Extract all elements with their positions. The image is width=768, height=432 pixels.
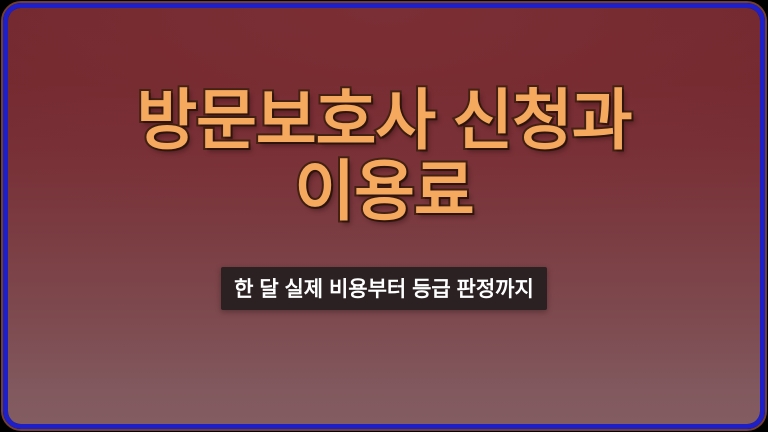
blue-frame-border: 방문보호사 신청과 이용료 한 달 실제 비용부터 등급 판정까지: [3, 3, 765, 429]
title-line-2: 이용료: [8, 159, 760, 224]
subtitle-badge: 한 달 실제 비용부터 등급 판정까지: [221, 267, 547, 310]
subtitle-area: 한 달 실제 비용부터 등급 판정까지: [8, 267, 760, 310]
title-line-1: 방문보호사 신청과: [8, 88, 760, 153]
content-area: 방문보호사 신청과 이용료 한 달 실제 비용부터 등급 판정까지: [8, 8, 760, 424]
thumbnail-canvas: 방문보호사 신청과 이용료 한 달 실제 비용부터 등급 판정까지: [0, 0, 768, 432]
title-block: 방문보호사 신청과 이용료: [8, 88, 760, 223]
